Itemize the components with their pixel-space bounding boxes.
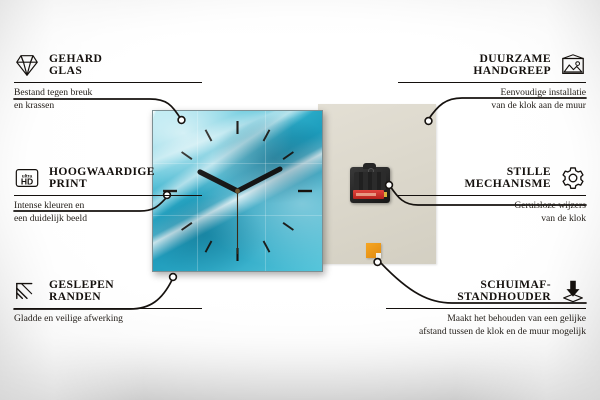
feature-heading: GESLEPEN RANDEN: [14, 278, 202, 304]
feature-title-line2: STANDHOUDER: [457, 291, 551, 303]
feature-title-line2: MECHANISME: [465, 178, 551, 190]
feature-description: Gladde en veilige afwerking: [14, 313, 202, 326]
feature-desc-line2: afstand tussen de klok en de muur mogeli…: [386, 326, 586, 339]
feature-duurzame-handgreep[interactable]: DUURZAME HANDGREEP Eenvoudige installati…: [398, 52, 586, 112]
feature-desc-line2: van de klok: [398, 213, 586, 226]
feature-title-line2: RANDEN: [49, 291, 114, 303]
gear-icon: [560, 165, 586, 191]
wire-endpoint-gehard-glas: [178, 117, 185, 124]
feature-title-line2: HANDGREEP: [473, 65, 551, 77]
svg-text:HD: HD: [21, 177, 33, 187]
feature-desc-line1: Eenvoudige installatie: [398, 87, 586, 100]
feature-divider: [14, 82, 202, 83]
feature-title: STILLE MECHANISME: [465, 166, 551, 191]
feature-divider: [398, 195, 586, 196]
feature-gehard-glas[interactable]: GEHARD GLAS Bestand tegen breuk en krass…: [14, 52, 202, 112]
feature-divider: [14, 308, 202, 309]
feature-heading: DUURZAME HANDGREEP: [398, 52, 586, 78]
feature-desc-line2: en krassen: [14, 100, 202, 113]
feature-desc-line1: Geruisloze wijzers: [398, 200, 586, 213]
infographic-canvas: GEHARD GLAS Bestand tegen breuk en krass…: [0, 0, 600, 400]
feature-schuimafstandhouder[interactable]: SCHUIMAF- STANDHOUDER Maakt het behouden…: [386, 278, 586, 338]
feature-description: Eenvoudige installatie van de klok aan d…: [398, 87, 586, 112]
feature-desc-line1: Maakt het behouden van een gelijke: [386, 313, 586, 326]
feature-divider: [398, 82, 586, 83]
wire-endpoint-schuimafstandhouder: [374, 259, 381, 266]
feature-title: SCHUIMAF- STANDHOUDER: [457, 279, 551, 304]
feature-description: Bestand tegen breuk en krassen: [14, 87, 202, 112]
feature-heading: SCHUIMAF- STANDHOUDER: [386, 278, 586, 304]
feature-divider: [14, 195, 202, 196]
feature-hoogwaardige-print[interactable]: ultra HD HOOGWAARDIGE PRINT Intense kleu…: [14, 165, 202, 225]
feature-heading: STILLE MECHANISME: [398, 165, 586, 191]
wire-endpoint-duurzame-handgreep: [425, 118, 432, 125]
feature-geslepen-randen[interactable]: GESLEPEN RANDEN Gladde en veilige afwerk…: [14, 278, 202, 326]
bevelled-edges-icon: [14, 278, 40, 304]
feature-desc-line1: Intense kleuren en: [14, 200, 202, 213]
feature-description: Maakt het behouden van een gelijke afsta…: [386, 313, 586, 338]
feature-desc-line2: een duidelijk beeld: [14, 213, 202, 226]
feature-title: HOOGWAARDIGE PRINT: [49, 166, 155, 191]
wire-endpoint-stille-mechanisme: [386, 182, 393, 189]
feature-desc-line1: Gladde en veilige afwerking: [14, 313, 202, 326]
diamond-icon: [14, 52, 40, 78]
feature-title: GESLEPEN RANDEN: [49, 279, 114, 304]
feature-heading: GEHARD GLAS: [14, 52, 202, 78]
feature-description: Geruisloze wijzers van de klok: [398, 200, 586, 225]
feature-divider: [386, 308, 586, 309]
foam-spacer-icon: [560, 278, 586, 304]
feature-desc-line2: van de klok aan de muur: [398, 100, 586, 113]
feature-desc-line1: Bestand tegen breuk: [14, 87, 202, 100]
ultra-hd-icon: ultra HD: [14, 165, 40, 191]
picture-frame-icon: [560, 52, 586, 78]
feature-stille-mechanisme[interactable]: STILLE MECHANISME Geruisloze wijzers van…: [398, 165, 586, 225]
feature-title: GEHARD GLAS: [49, 53, 102, 78]
feature-description: Intense kleuren en een duidelijk beeld: [14, 200, 202, 225]
feature-heading: ultra HD HOOGWAARDIGE PRINT: [14, 165, 202, 191]
feature-title-line2: GLAS: [49, 65, 102, 77]
feature-title: DUURZAME HANDGREEP: [473, 53, 551, 78]
feature-title-line2: PRINT: [49, 178, 155, 190]
